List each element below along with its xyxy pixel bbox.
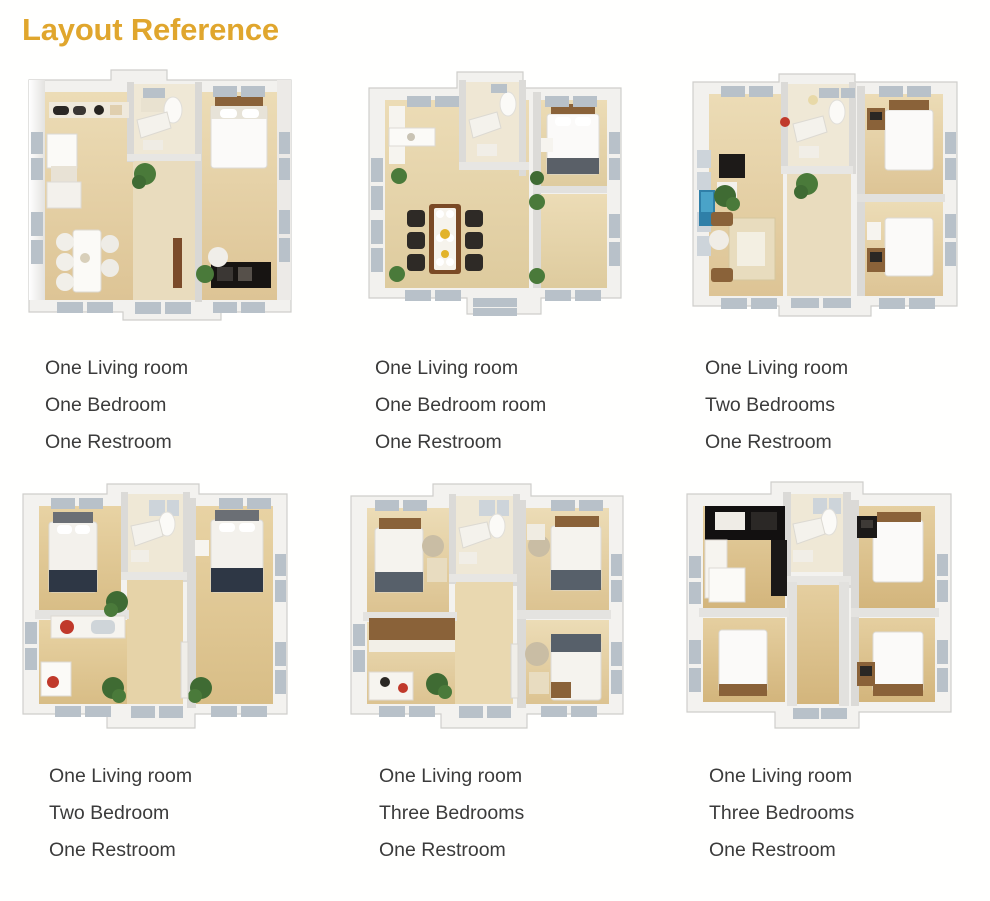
floorplan-3d-icon: [675, 472, 975, 740]
caption-line: One Bedroom room: [375, 387, 645, 424]
floorplan-card-4[interactable]: One Living room Two Bedroom One Restroom: [0, 472, 330, 882]
floorplan-caption-6: One Living room Three Bedrooms One Restr…: [675, 740, 975, 869]
caption-line: Two Bedroom: [49, 795, 315, 832]
floorplan-image-2: [345, 62, 645, 330]
floorplan-caption-3: One Living room Two Bedrooms One Restroo…: [675, 330, 975, 461]
caption-line: One Restroom: [705, 424, 975, 461]
floorplan-3d-icon: [675, 62, 975, 330]
caption-line: One Restroom: [375, 424, 645, 461]
caption-line: One Living room: [49, 758, 315, 795]
layout-reference-page: Layout Reference: [0, 0, 990, 901]
caption-line: One Restroom: [379, 832, 645, 869]
floorplan-image-5: [345, 472, 645, 740]
floorplan-card-1[interactable]: One Living room One Bedroom One Restroom: [0, 62, 330, 472]
page-title: Layout Reference: [22, 12, 279, 48]
caption-line: Three Bedrooms: [709, 795, 975, 832]
caption-line: One Restroom: [49, 832, 315, 869]
caption-line: One Living room: [709, 758, 975, 795]
caption-line: One Living room: [705, 350, 975, 387]
caption-line: One Living room: [375, 350, 645, 387]
floorplan-caption-5: One Living room Three Bedrooms One Restr…: [345, 740, 645, 869]
floorplan-caption-4: One Living room Two Bedroom One Restroom: [15, 740, 315, 869]
caption-line: Three Bedrooms: [379, 795, 645, 832]
floorplan-3d-icon: [345, 62, 645, 330]
floorplan-image-3: [675, 62, 975, 330]
floorplan-image-1: [15, 62, 315, 330]
floorplan-image-6: [675, 472, 975, 740]
floorplan-card-2[interactable]: One Living room One Bedroom room One Res…: [330, 62, 660, 472]
caption-line: One Living room: [45, 350, 315, 387]
floorplan-image-4: [15, 472, 315, 740]
floorplan-3d-icon: [345, 472, 645, 740]
caption-line: One Restroom: [45, 424, 315, 461]
floorplan-card-3[interactable]: One Living room Two Bedrooms One Restroo…: [660, 62, 990, 472]
floorplan-card-6[interactable]: One Living room Three Bedrooms One Restr…: [660, 472, 990, 882]
floorplan-3d-icon: [15, 472, 315, 740]
caption-line: One Living room: [379, 758, 645, 795]
floorplan-caption-2: One Living room One Bedroom room One Res…: [345, 330, 645, 461]
floorplan-3d-icon: [15, 62, 315, 330]
caption-line: One Restroom: [709, 832, 975, 869]
floorplan-card-5[interactable]: One Living room Three Bedrooms One Restr…: [330, 472, 660, 882]
caption-line: Two Bedrooms: [705, 387, 975, 424]
floorplan-grid: One Living room One Bedroom One Restroom: [0, 62, 990, 882]
floorplan-caption-1: One Living room One Bedroom One Restroom: [15, 330, 315, 461]
caption-line: One Bedroom: [45, 387, 315, 424]
